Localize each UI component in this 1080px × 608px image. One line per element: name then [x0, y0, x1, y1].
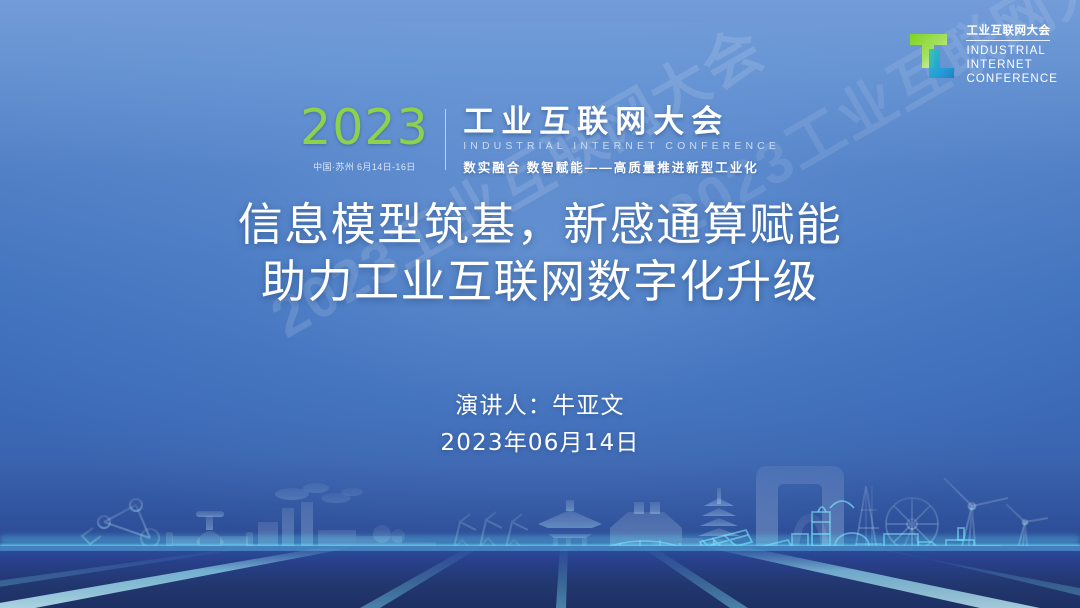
logo-english-line-1: INDUSTRIAL: [966, 44, 1058, 58]
event-banner: 2023 中国·苏州 6月14日-16日 工业互联网大会 INDUSTRIAL …: [0, 105, 1080, 176]
slide-title-line-2: 助力工业互联网数字化升级: [0, 253, 1080, 310]
logo-english-line-3: CONFERENCE: [966, 72, 1058, 86]
conference-logo-text: 工业互联网大会 INDUSTRIAL INTERNET CONFERENCE: [966, 22, 1058, 87]
industrial-internet-conference-logo-mark-icon: [907, 28, 957, 80]
event-title-chinese: 工业互联网大会: [463, 105, 780, 138]
slide-title: 信息模型筑基，新感通算赋能 助力工业互联网数字化升级: [0, 196, 1080, 310]
event-banner-titles: 工业互联网大会 INDUSTRIAL INTERNET CONFERENCE 数…: [446, 105, 780, 176]
ground-plane: [0, 546, 1080, 608]
logo-english-line-2: INTERNET: [966, 58, 1058, 72]
presenter-name: 演讲人：牛亚文: [0, 388, 1080, 425]
logo-chinese-name: 工业互联网大会: [966, 26, 1050, 41]
presentation-slide: 2023工业互联网大会 2023工业互联网大会 工业互联网大会 IN: [0, 0, 1080, 608]
perspective-road-lines: [0, 546, 1080, 608]
event-title-english: INDUSTRIAL INTERNET CONFERENCE: [463, 140, 780, 152]
event-slogan: 数实融合 数智赋能——高质量推进新型工业化: [463, 157, 780, 176]
event-banner-inner: 2023 中国·苏州 6月14日-16日 工业互联网大会 INDUSTRIAL …: [300, 105, 780, 176]
conference-logo: 工业互联网大会 INDUSTRIAL INTERNET CONFERENCE: [907, 22, 1058, 87]
event-location-date: 中国·苏州 6月14日-16日: [300, 160, 429, 173]
slide-title-line-1: 信息模型筑基，新感通算赋能: [0, 196, 1080, 253]
bottom-skyline-scene: [0, 428, 1080, 608]
event-year-block: 2023 中国·苏州 6月14日-16日: [300, 105, 445, 176]
event-year: 2023: [300, 105, 429, 152]
